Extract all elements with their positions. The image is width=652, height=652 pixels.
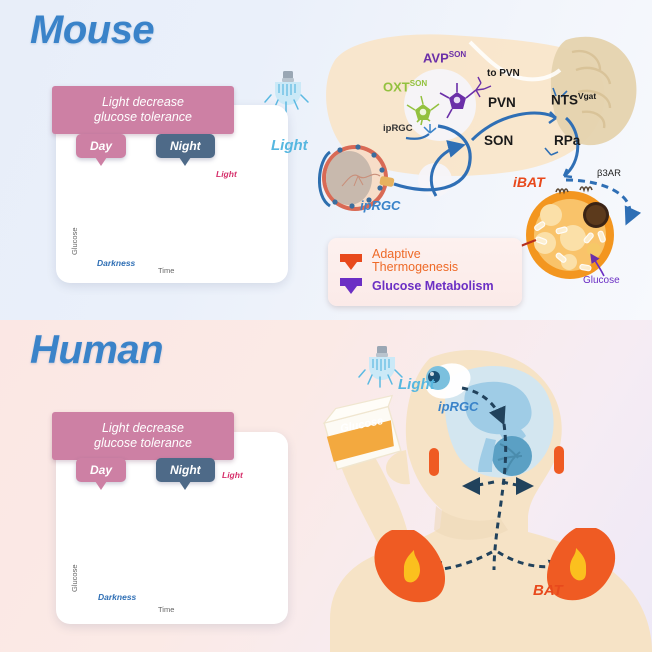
badge-night-label: Night	[170, 139, 201, 153]
nts-sup: Vgat	[578, 91, 596, 101]
legend-row-adaptive: Adaptive Thermogenesis	[338, 248, 510, 274]
oxt-sup: SON	[410, 79, 427, 88]
badge-day-label: Day	[90, 139, 112, 153]
badge-day-human: Day	[76, 458, 126, 482]
banner-line-1: Light decrease	[58, 95, 228, 110]
son-label: SON	[484, 133, 513, 148]
light-label-human: Light	[398, 376, 435, 393]
mouse-y-axis-label: Glucose	[70, 227, 79, 255]
page-title-human: Human	[30, 328, 163, 373]
glucose-callout-label: Glucose	[583, 275, 620, 286]
mouse-darkness-note: Darkness	[97, 258, 135, 268]
human-darkness-note: Darkness	[98, 592, 136, 602]
to-pvn-label: to PVN	[487, 68, 520, 79]
figure-root: Mouse Light decrease glucose tolerance D…	[0, 0, 652, 652]
avp-son-label: AVPSON	[423, 50, 466, 65]
bat-label: BAT	[533, 582, 563, 599]
banner-line-2: glucose tolerance	[58, 436, 228, 451]
ibat-adipocyte-icon	[526, 187, 614, 279]
mouse-panel: Mouse Light decrease glucose tolerance D…	[0, 0, 652, 320]
avp-sup: SON	[449, 50, 466, 59]
avp-text: AVP	[423, 50, 449, 65]
human-x-axis-label: Time	[158, 605, 174, 614]
light-bulb-icon-human	[359, 346, 402, 387]
iprgc-label-human: ipRGC	[438, 399, 478, 414]
ibat-label: iBAT	[513, 174, 545, 190]
iprgc-brain-label: ipRGC	[383, 123, 413, 134]
nts-text: NTS	[551, 93, 578, 108]
badge-night-human: Night	[156, 458, 215, 482]
human-light-note: Light	[222, 470, 243, 480]
down-arrow-orange-icon	[338, 250, 364, 272]
human-panel: Human Light decrease glucose tolerance D…	[0, 320, 652, 652]
banner-line-2: glucose tolerance	[58, 110, 228, 125]
neck-bat-left-icon	[429, 448, 439, 476]
oxt-text: OXT	[383, 79, 410, 94]
adaptive-thermogenesis-text: Adaptive Thermogenesis	[372, 248, 458, 274]
iprgc-eye-label: ipRGC	[360, 198, 400, 213]
down-arrow-purple-icon	[338, 276, 364, 296]
mouse-light-note: Light	[216, 169, 237, 179]
page-title-mouse: Mouse	[30, 8, 154, 53]
human-chart-banner: Light decrease glucose tolerance	[52, 412, 234, 460]
badge-day-mouse: Day	[76, 134, 126, 158]
banner-line-1: Light decrease	[58, 421, 228, 436]
glucose-metabolism-text: Glucose Metabolism	[372, 280, 494, 293]
mouse-chart-banner: Light decrease glucose tolerance	[52, 86, 234, 134]
badge-night-label: Night	[170, 463, 201, 477]
badge-night-mouse: Night	[156, 134, 215, 158]
human-y-axis-label: Glucose	[70, 564, 79, 592]
adaptive-line-2: Thermogenesis	[372, 261, 458, 274]
mouse-x-axis-label: Time	[158, 266, 174, 275]
nts-vgat-label: NTSVgat	[551, 91, 596, 108]
mouse-legend-box: Adaptive Thermogenesis Glucose Metabolis…	[328, 238, 522, 306]
pvn-label: PVN	[488, 95, 516, 110]
b3ar-label: β3AR	[597, 168, 621, 179]
oxt-son-label: OXTSON	[383, 79, 427, 94]
legend-row-glucose: Glucose Metabolism	[338, 276, 510, 296]
neck-bat-right-icon	[554, 446, 564, 474]
badge-day-label: Day	[90, 463, 112, 477]
rpa-label: RPa	[554, 133, 580, 148]
light-label-mouse: Light	[271, 137, 308, 154]
